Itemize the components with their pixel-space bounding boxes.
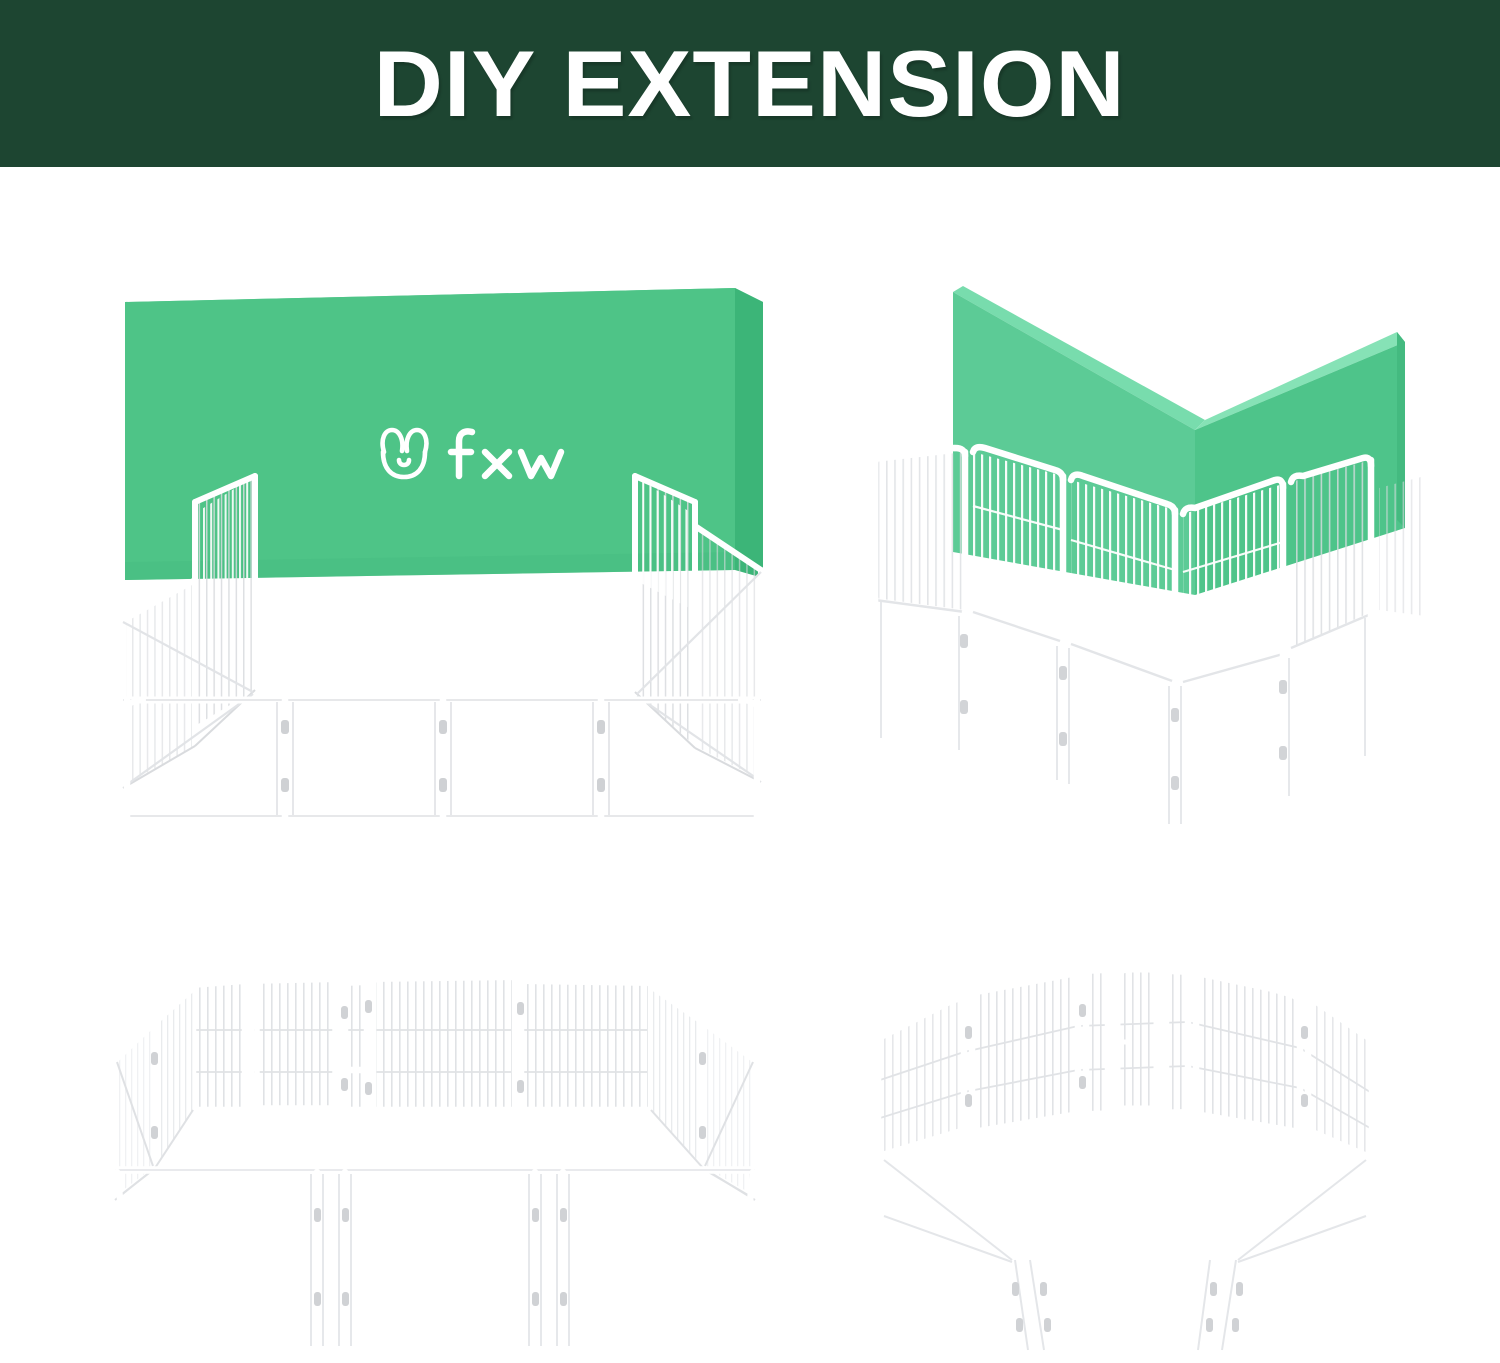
header-banner: DIY EXTENSION xyxy=(0,0,1500,167)
infographic-page: DIY EXTENSION xyxy=(0,0,1500,1363)
figure-rectangle-layout xyxy=(95,960,795,1360)
figure-octagon-layout xyxy=(860,960,1390,1360)
figure-flat-wall-extension: fxw xyxy=(95,280,795,850)
page-title: DIY EXTENSION xyxy=(374,37,1126,131)
fence-front-arc xyxy=(878,1158,1372,1354)
fence-back-run xyxy=(193,974,651,1110)
figure-corner-wall-extension xyxy=(845,280,1425,850)
fence-back-arc xyxy=(878,966,1372,1160)
fence-front-run xyxy=(115,1170,755,1348)
